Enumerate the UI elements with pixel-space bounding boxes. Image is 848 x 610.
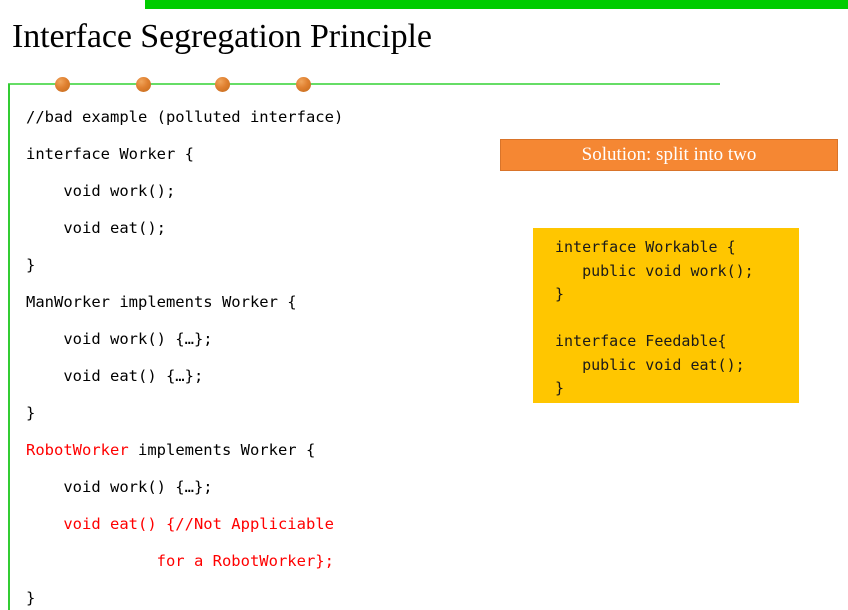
code-token: void work() {…}; — [26, 478, 213, 496]
title-horizontal-rule — [8, 83, 720, 85]
code-line: } — [26, 580, 496, 610]
top-green-banner — [145, 0, 848, 9]
code-line: //bad example (polluted interface) — [26, 99, 496, 136]
code-token: void eat() {//Not Appliciable — [26, 515, 334, 533]
code-token: ManWorker implements Worker { — [26, 293, 297, 311]
code-line: ManWorker implements Worker { — [26, 284, 496, 321]
code-line: void eat(); — [26, 210, 496, 247]
code-token: } — [26, 589, 35, 607]
code-block-solution-text: interface Workable { public void work();… — [555, 236, 799, 401]
code-token: void eat() {…}; — [26, 367, 203, 385]
code-line: } — [26, 395, 496, 432]
bullet-bead-4 — [296, 77, 311, 92]
code-token: void work(); — [26, 182, 175, 200]
code-line: void eat() {…}; — [26, 358, 496, 395]
code-token: interface Worker { — [26, 145, 194, 163]
code-token: //bad example (polluted interface) — [26, 108, 343, 126]
code-token: void eat(); — [26, 219, 166, 237]
bullet-bead-2 — [136, 77, 151, 92]
code-token: } — [26, 404, 35, 422]
page-title: Interface Segregation Principle — [12, 17, 432, 57]
code-line: void work(); — [26, 173, 496, 210]
code-token: void work() {…}; — [26, 330, 213, 348]
code-block-bad-example: //bad example (polluted interface)interf… — [26, 99, 496, 610]
code-token: } — [26, 256, 35, 274]
code-token: implements Worker { — [129, 441, 316, 459]
code-line: } — [26, 247, 496, 284]
solution-callout-label: Solution: split into two — [582, 144, 757, 166]
code-line: void work() {…}; — [26, 469, 496, 506]
bullet-bead-1 — [55, 77, 70, 92]
code-line: interface Worker { — [26, 136, 496, 173]
code-line: void eat() {//Not Appliciable — [26, 506, 496, 543]
code-block-solution-card: interface Workable { public void work();… — [533, 228, 799, 403]
code-line: void work() {…}; — [26, 321, 496, 358]
code-token: for a RobotWorker}; — [26, 552, 334, 570]
code-line: RobotWorker implements Worker { — [26, 432, 496, 469]
bullet-bead-3 — [215, 77, 230, 92]
code-line: for a RobotWorker}; — [26, 543, 496, 580]
left-vertical-rule — [8, 84, 10, 610]
code-token: RobotWorker — [26, 441, 129, 459]
solution-callout-banner: Solution: split into two — [500, 139, 838, 171]
slide-canvas: Interface Segregation Principle //bad ex… — [0, 0, 848, 610]
